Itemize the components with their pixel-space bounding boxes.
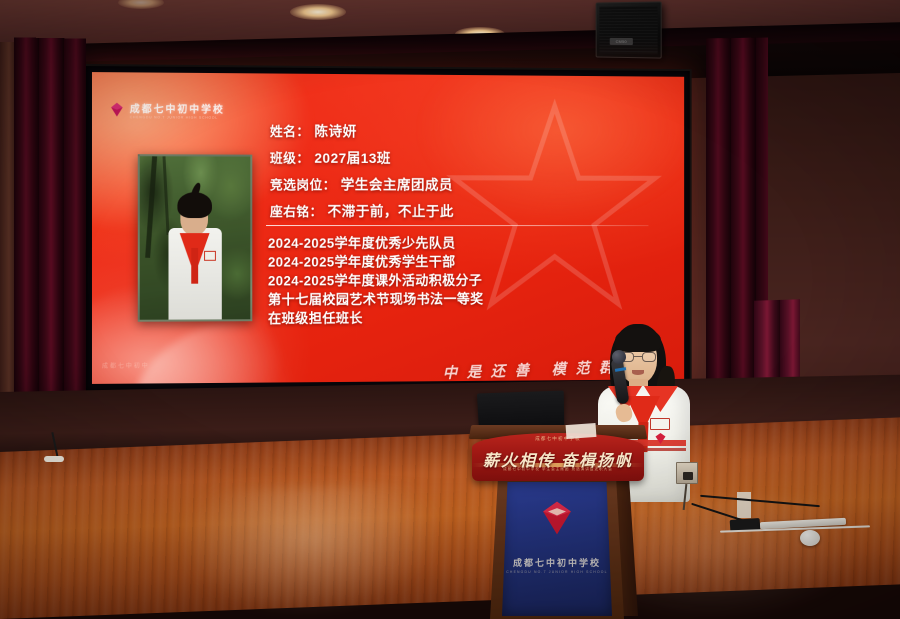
slide-divider: [266, 225, 648, 226]
candidate-awards-list: 2024-2025学年度优秀少先队员 2024-2025学年度优秀学生干部 20…: [268, 234, 484, 328]
hair-front: [615, 328, 661, 352]
podium-banner-subtext: 成都七中初中学校 学生会主席团 竞选演讲暨述职大会: [472, 467, 644, 472]
school-gem-logo-icon: [539, 500, 575, 536]
info-row: 竞选岗位： 学生会主席团成员: [270, 175, 454, 195]
info-key: 姓名：: [270, 121, 310, 140]
photo-red-scarf-tail: [191, 248, 199, 284]
podium-school-name-en: CHENGDU NO.7 JUNIOR HIGH SCHOOL: [502, 570, 612, 574]
uniform-name-badge: [650, 418, 670, 430]
award-line: 2024-2025学年度优秀学生干部: [268, 253, 484, 272]
slide-school-name-en: CHENGDU NO.7 JUNIOR HIGH SCHOOL: [130, 115, 225, 120]
ceiling-downlight-icon: [290, 4, 346, 20]
speaking-podium: 成都七中初中学校 薪火相传 奋楫扬帆 成都七中初中学校 学生会主席团 竞选演讲暨…: [470, 424, 646, 619]
slide-footer-mark: 成都七中初中: [102, 361, 150, 370]
podium-front-panel: 成都七中初中学校 CHENGDU NO.7 JUNIOR HIGH SCHOOL: [502, 482, 612, 616]
mouth: [632, 370, 644, 375]
speaker-grille-icon: [599, 6, 657, 55]
speaker-brand-badge: CM50: [610, 38, 633, 45]
wall-outlet-box[interactable]: [676, 462, 698, 484]
info-key: 竞选岗位：: [270, 175, 336, 194]
info-key: 班级：: [270, 148, 310, 167]
award-line: 2024-2025学年度优秀少先队员: [268, 234, 484, 253]
info-row: 姓名： 陈诗妍: [270, 121, 454, 142]
award-line: 在班级担任班长: [268, 308, 484, 328]
award-line: 2024-2025学年度课外活动积极分子: [268, 271, 484, 290]
school-gem-logo-icon: [110, 102, 124, 117]
photo-school-badge: [204, 251, 216, 261]
candidate-info-block: 姓名： 陈诗妍 班级： 2027届13班 竞选岗位： 学生会主席团成员 座右铭：…: [270, 121, 454, 228]
info-value: 陈诗妍: [314, 121, 356, 141]
podium-school-name-cn: 成都七中初中学校: [502, 556, 612, 569]
info-row: 班级： 2027届13班: [270, 148, 454, 168]
cable-tape: [737, 492, 751, 518]
slide-school-logo: 成都七中初中学校 CHENGDU NO.7 JUNIOR HIGH SCHOOL: [110, 100, 225, 120]
candidate-portrait-photo: [138, 154, 253, 322]
papers-on-podium: [566, 423, 597, 439]
info-key: 座右铭：: [270, 201, 323, 220]
podium-banner: 成都七中初中学校 薪火相传 奋楫扬帆 成都七中初中学校 学生会主席团 竞选演讲暨…: [472, 433, 644, 481]
info-row: 座右铭： 不滞于前，不止于此: [270, 201, 454, 221]
info-value: 学生会主席团成员: [341, 175, 453, 195]
slide-school-name-cn: 成都七中初中学校: [130, 100, 225, 116]
info-value: 不滞于前，不止于此: [328, 201, 454, 221]
mic-stand-base: [44, 456, 64, 462]
school-gem-logo-icon: [654, 432, 667, 445]
wall-speaker-cabinet: CM50: [596, 1, 662, 58]
info-value: 2027届13班: [314, 148, 390, 168]
round-plug-adapter[interactable]: [800, 530, 820, 546]
award-line: 第十七届校园艺术节现场书法一等奖: [268, 290, 484, 310]
auditorium-stage-scene: CM50 成都七中初中学校 CHENGDU NO.7 JU: [0, 0, 900, 619]
floor-reflection: [180, 481, 440, 619]
